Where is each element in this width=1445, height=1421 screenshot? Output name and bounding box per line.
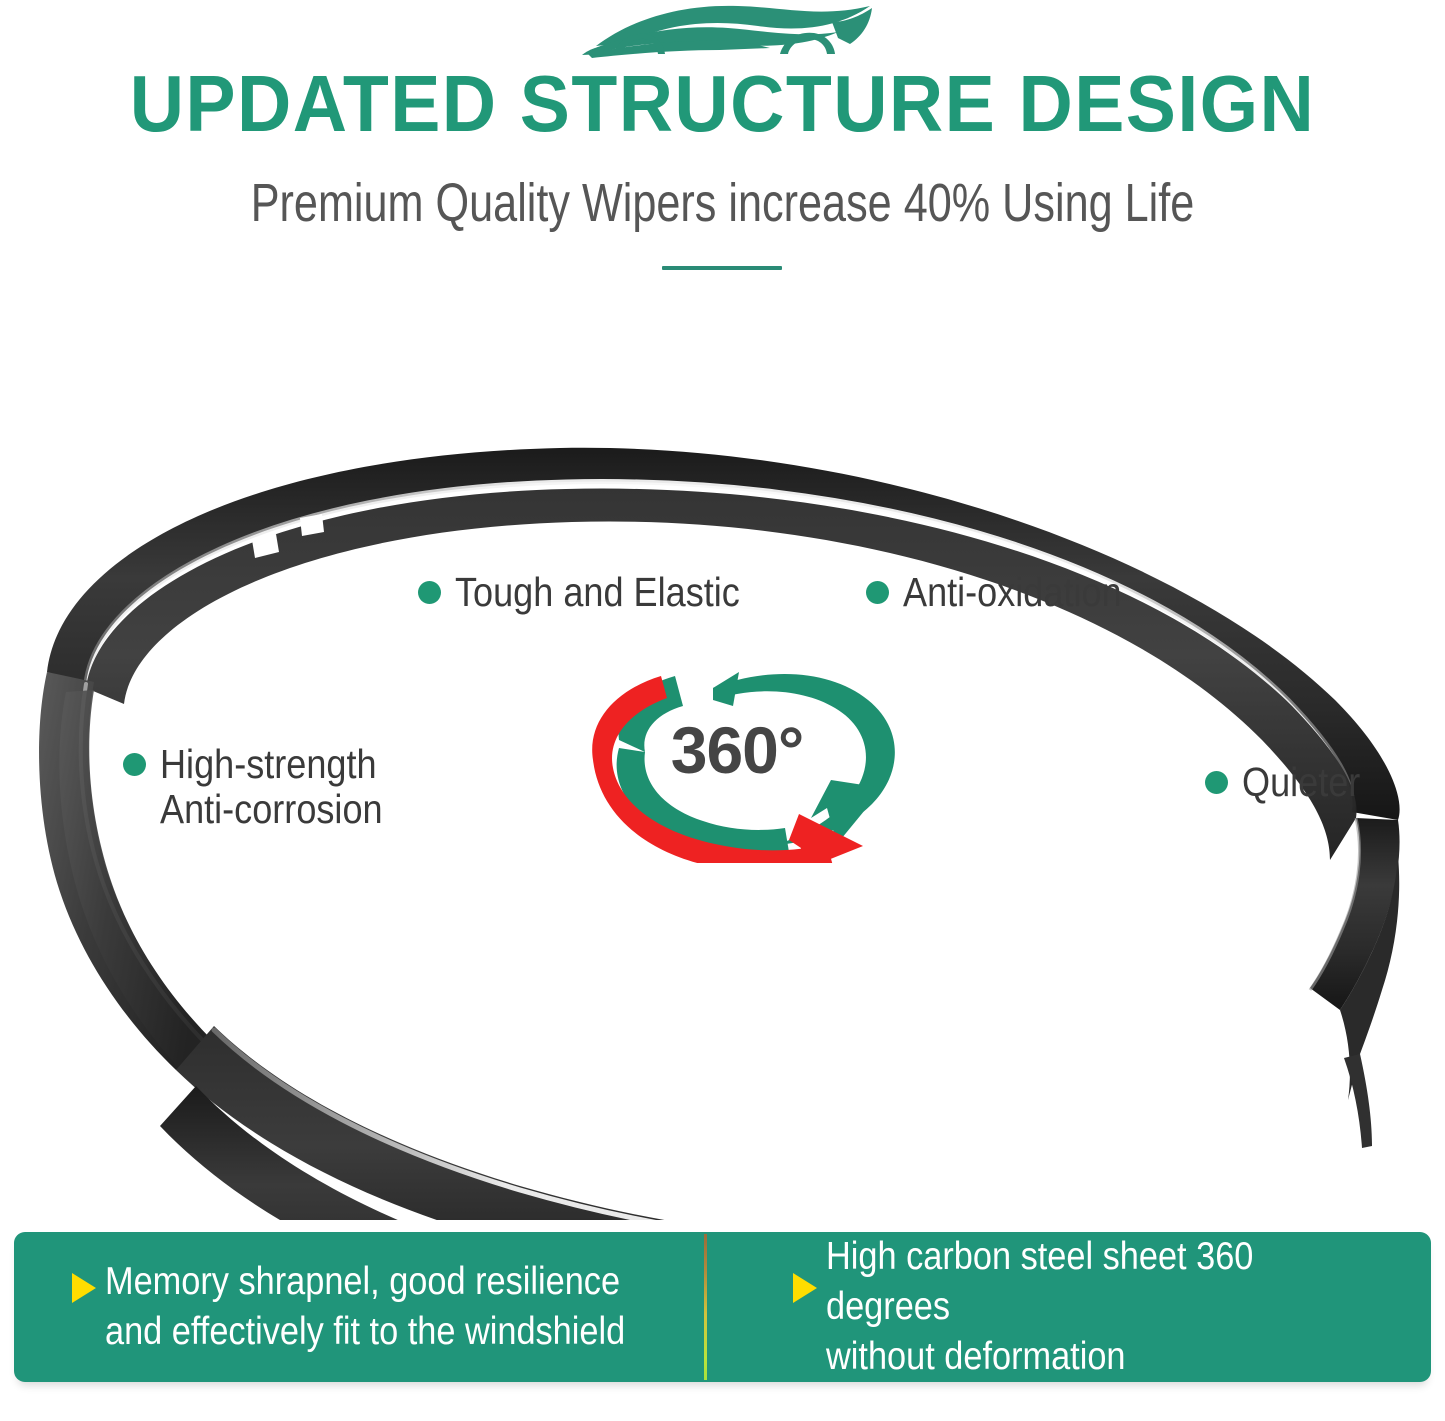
banner-item-text: High carbon steel sheet 360 degrees with… <box>826 1232 1359 1382</box>
feature-label: Anti-oxidation <box>903 570 1122 615</box>
car-silhouette-icon <box>570 2 890 60</box>
page-subtitle: Premium Quality Wipers increase 40% Usin… <box>145 172 1301 234</box>
feature-label: Tough and Elastic <box>455 570 740 615</box>
banner-divider <box>704 1234 707 1380</box>
badge-360-degrees: 360° <box>563 648 923 863</box>
title-underline-rule <box>662 266 782 270</box>
bullet-dot-icon <box>418 581 441 604</box>
bullet-dot-icon <box>1205 771 1228 794</box>
banner-item-memory-shrapnel: Memory shrapnel, good resilience and eff… <box>14 1232 723 1382</box>
banner-item-text: Memory shrapnel, good resilience and eff… <box>105 1257 625 1357</box>
product-showcase: Tough and Elastic Anti-oxidation High-st… <box>0 300 1445 1220</box>
bullet-dot-icon <box>866 581 889 604</box>
feature-label: Quieter <box>1242 760 1360 805</box>
bullet-dot-icon <box>123 753 146 776</box>
play-triangle-icon <box>72 1273 96 1303</box>
feature-quieter: Quieter <box>1205 760 1376 805</box>
bottom-feature-banner: Memory shrapnel, good resilience and eff… <box>14 1232 1431 1382</box>
feature-high-strength-anti-corrosion: High-strength Anti-corrosion <box>123 742 413 832</box>
play-triangle-icon <box>793 1273 817 1303</box>
feature-anti-oxidation: Anti-oxidation <box>866 570 1151 615</box>
feature-tough-and-elastic: Tough and Elastic <box>418 570 779 615</box>
page-title: UPDATED STRUCTURE DESIGN <box>43 62 1401 146</box>
banner-item-high-carbon-steel: High carbon steel sheet 360 degrees with… <box>723 1232 1432 1382</box>
feature-label: High-strength Anti-corrosion <box>160 742 383 832</box>
header: UPDATED STRUCTURE DESIGN Premium Quality… <box>0 0 1445 300</box>
